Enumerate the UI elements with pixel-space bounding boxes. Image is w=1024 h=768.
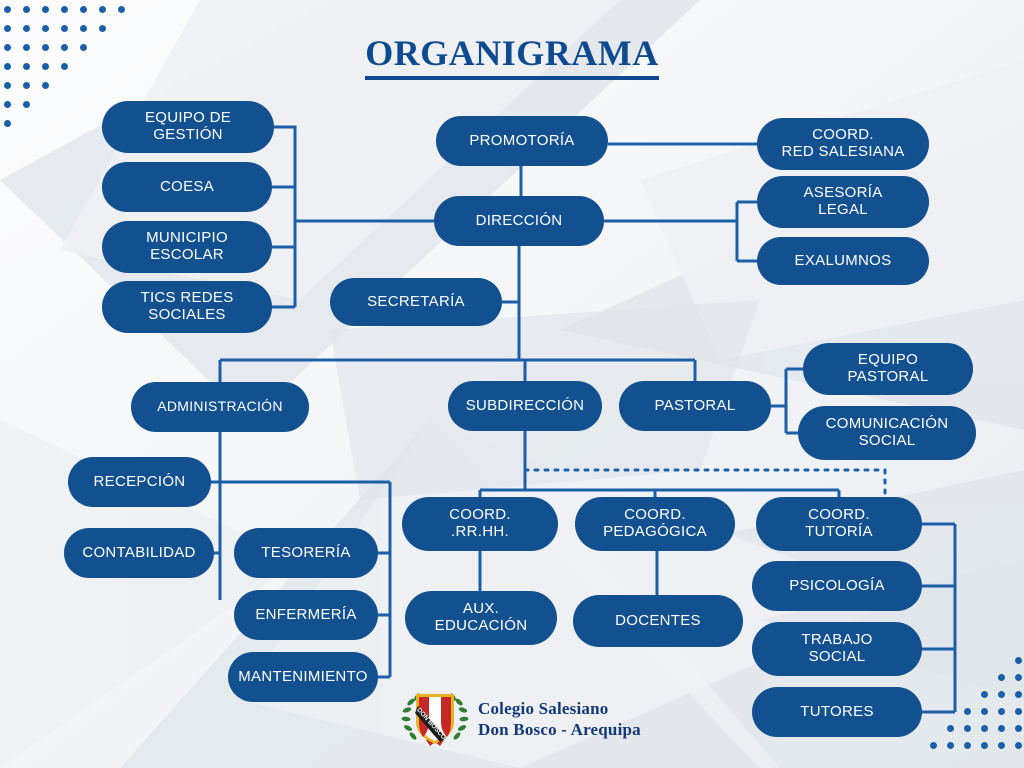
org-node-coord-red-salesiana[interactable]: COORD. RED SALESIANA <box>757 118 929 170</box>
org-node-tutores[interactable]: TUTORES <box>752 687 922 737</box>
org-node-pastoral[interactable]: PASTORAL <box>619 381 771 431</box>
org-node-contabilidad[interactable]: CONTABILIDAD <box>64 528 214 578</box>
org-node-exalumnos[interactable]: EXALUMNOS <box>757 237 929 285</box>
org-node-comunicacion-social[interactable]: COMUNICACIÓN SOCIAL <box>798 406 976 460</box>
school-logo: DON BOSCO Colegio Salesiano Don Bosco - … <box>398 686 688 752</box>
org-node-direccion[interactable]: DIRECCIÓN <box>434 196 604 246</box>
org-node-tesoreria[interactable]: TESORERÍA <box>234 528 378 578</box>
org-node-docentes[interactable]: DOCENTES <box>573 595 743 647</box>
org-node-coesa[interactable]: COESA <box>102 162 272 212</box>
logo-line-1: Colegio Salesiano <box>478 698 641 719</box>
org-node-coord-pedagogica[interactable]: COORD. PEDAGÓGICA <box>575 497 735 551</box>
org-node-promotoria[interactable]: PROMOTORÍA <box>436 116 608 166</box>
org-node-mantenimiento[interactable]: MANTENIMIENTO <box>228 652 378 702</box>
org-node-municipio-escolar[interactable]: MUNICIPIO ESCOLAR <box>102 221 272 273</box>
logo-line-2: Don Bosco - Arequipa <box>478 719 641 740</box>
org-node-equipo-gestion[interactable]: EQUIPO DE GESTIÓN <box>102 101 274 153</box>
org-node-tics-redes-sociales[interactable]: TICS REDES SOCIALES <box>102 281 272 333</box>
org-node-enfermeria[interactable]: ENFERMERÍA <box>234 590 378 640</box>
org-node-coord-tutoria[interactable]: COORD. TUTORÍA <box>756 497 922 551</box>
org-node-secretaria[interactable]: SECRETARÍA <box>330 278 502 326</box>
org-node-coord-rrhh[interactable]: COORD. .RR.HH. <box>402 497 558 551</box>
org-node-psicologia[interactable]: PSICOLOGÍA <box>752 561 922 611</box>
org-node-recepcion[interactable]: RECEPCIÓN <box>68 457 211 507</box>
logo-text: Colegio Salesiano Don Bosco - Arequipa <box>478 698 641 741</box>
org-node-subdireccion[interactable]: SUBDIRECCIÓN <box>448 381 602 431</box>
org-node-asesoria-legal[interactable]: ASESORÍA LEGAL <box>757 176 929 228</box>
org-node-aux-educacion[interactable]: AUX. EDUCACIÓN <box>405 591 557 645</box>
org-node-administracion[interactable]: ADMINISTRACIÓN <box>131 382 309 432</box>
org-node-equipo-pastoral[interactable]: EQUIPO PASTORAL <box>803 343 973 395</box>
shield-icon: DON BOSCO <box>398 686 472 752</box>
org-node-trabajo-social[interactable]: TRABAJO SOCIAL <box>752 622 922 676</box>
